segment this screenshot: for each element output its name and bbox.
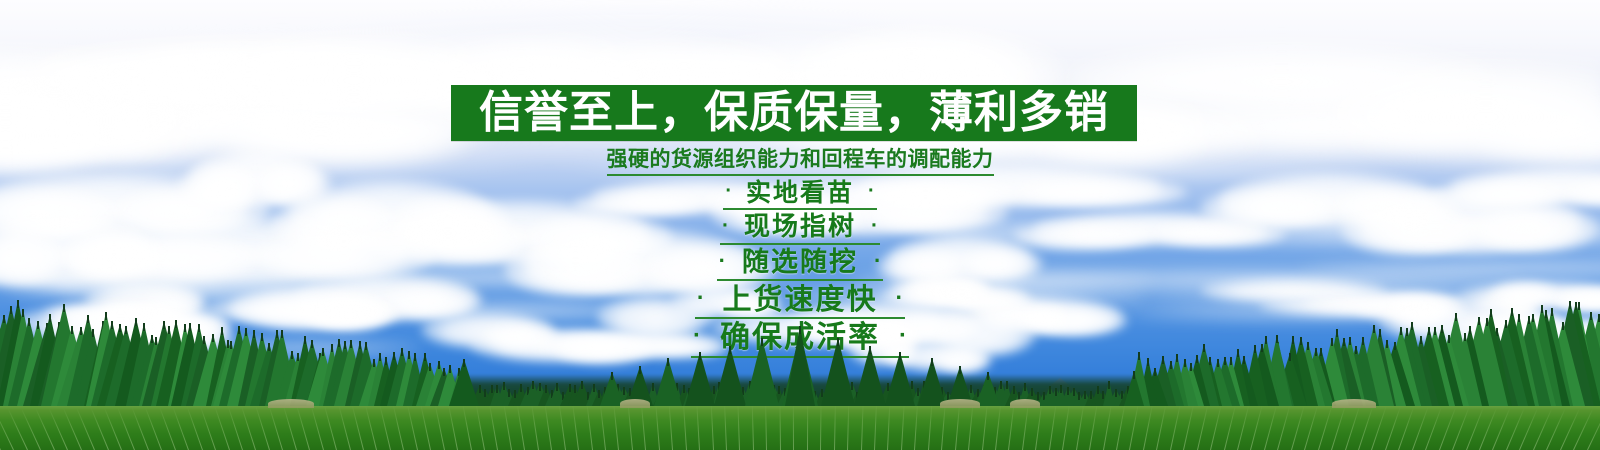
conifer-tree	[449, 359, 479, 406]
conifer-tree	[918, 358, 946, 406]
soil-mound	[1332, 399, 1376, 408]
conifer-tree	[654, 358, 682, 406]
bullet-dot-right-icon: ·	[899, 324, 907, 348]
feature-label-4: 上货速度快	[722, 285, 877, 314]
conifer-tree	[976, 372, 1000, 406]
bullet-dot-left-icon: ·	[693, 324, 701, 348]
feature-item-3: · 随选随挖 ·	[0, 249, 1600, 285]
feature-label-2: 现场指树	[744, 214, 856, 240]
bullet-dot-right-icon: ·	[896, 286, 904, 309]
conifer-tree	[785, 326, 815, 406]
soil-mound	[940, 399, 980, 408]
soil-mound	[268, 399, 314, 408]
subtitle-text: 强硬的货源组织能力和回程车的调配能力	[607, 146, 994, 176]
subtitle-row: 强硬的货源组织能力和回程车的调配能力	[0, 146, 1600, 176]
feature-item-2: · 现场指树 ·	[0, 214, 1600, 249]
feature-label-1: 实地看苗	[746, 180, 854, 205]
soil-mound	[620, 399, 650, 408]
feature-inner-2: · 现场指树 ·	[720, 214, 880, 245]
bullet-dot-left-icon: ·	[697, 286, 705, 309]
conifer-tree	[885, 352, 915, 406]
soil-mound	[1010, 399, 1040, 408]
conifer-tree	[1124, 371, 1144, 406]
bullet-dot-left-icon: ·	[722, 215, 729, 236]
conifer-tree	[854, 346, 886, 406]
bullet-dot-right-icon: ·	[871, 215, 878, 236]
feature-inner-4: · 上货速度快 ·	[695, 285, 905, 319]
bullet-dot-right-icon: ·	[874, 250, 881, 272]
headline-text: 信誉至上，保质保量，薄利多销	[479, 91, 1109, 135]
bullet-dot-right-icon: ·	[868, 181, 875, 201]
bullet-dot-left-icon: ·	[725, 181, 732, 201]
conifer-tree	[685, 352, 715, 406]
conifer-tree	[714, 346, 746, 406]
headline-plaque: 信誉至上，保质保量，薄利多销	[451, 85, 1137, 141]
conifer-tree	[821, 338, 855, 406]
feature-inner-3: · 随选随挖 ·	[717, 249, 884, 281]
bullet-dot-left-icon: ·	[719, 250, 726, 272]
feature-label-3: 随选随挖	[742, 249, 858, 276]
feature-inner-1: · 实地看苗 ·	[723, 180, 876, 210]
feature-item-1: · 实地看苗 ·	[0, 180, 1600, 214]
feature-item-4: · 上货速度快 ·	[0, 285, 1600, 323]
promo-banner: 信誉至上，保质保量，薄利多销 强硬的货源组织能力和回程车的调配能力 · 实地看苗…	[0, 0, 1600, 450]
conifer-tree	[745, 338, 779, 406]
